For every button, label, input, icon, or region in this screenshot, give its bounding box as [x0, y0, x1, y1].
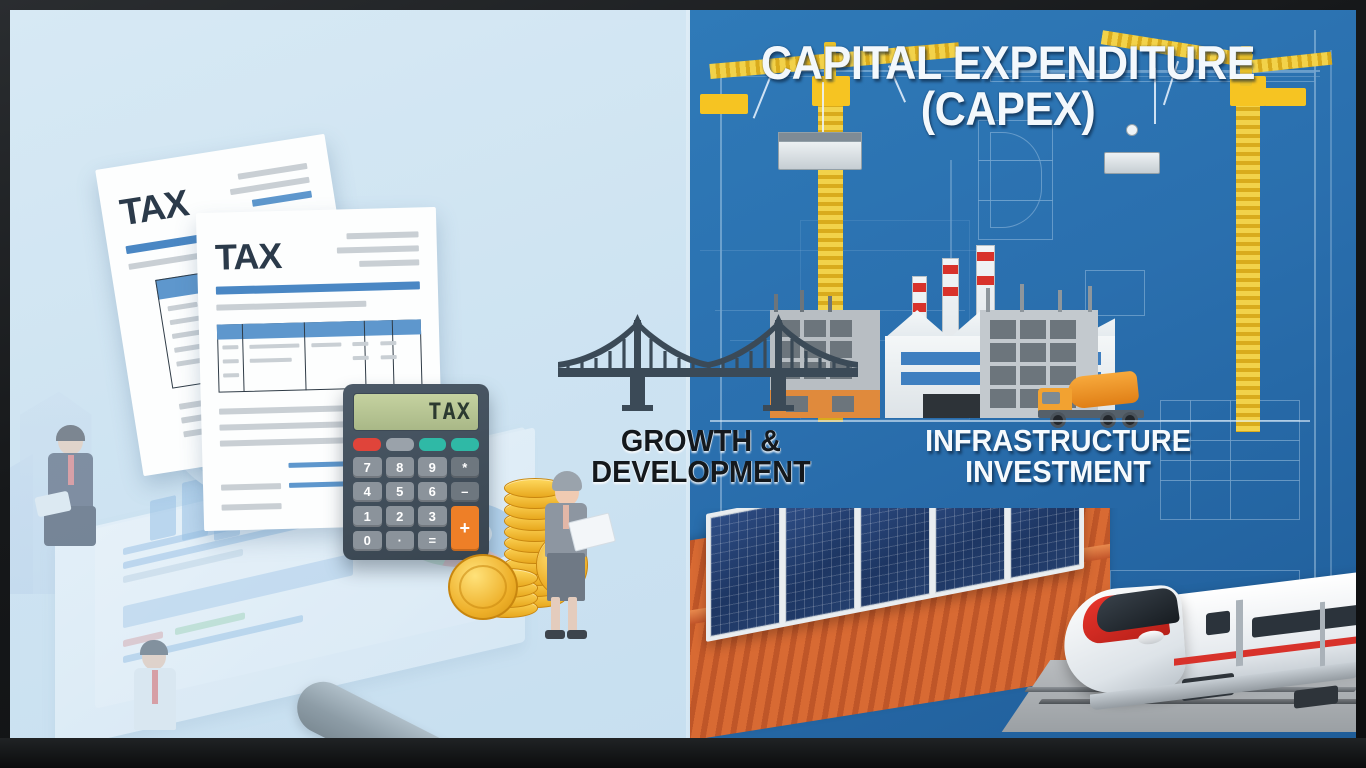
calculator-key-1[interactable]: 1: [353, 506, 382, 527]
calculator-key-4[interactable]: 4: [353, 482, 382, 503]
calculator-key-7[interactable]: 7: [353, 457, 382, 478]
calculator-key-teal-2[interactable]: [451, 438, 479, 451]
calculator-key-8[interactable]: 8: [386, 457, 415, 478]
calculator-key-clear[interactable]: [353, 438, 381, 451]
calculator-display: TAX: [353, 393, 479, 431]
calculator-key-plus[interactable]: +: [451, 506, 480, 551]
poster-artwork: TAX: [10, 10, 1356, 738]
calculator-key-3[interactable]: 3: [418, 506, 447, 527]
calculator-key-teal-1[interactable]: [419, 438, 447, 451]
calculator-key-equals[interactable]: =: [418, 531, 447, 552]
growth-label-line1: GROWTH &: [575, 425, 826, 456]
poster-canvas: TAX: [0, 0, 1366, 768]
infra-label-line2: INVESTMENT: [900, 456, 1216, 487]
calculator-key-2[interactable]: 2: [386, 506, 415, 527]
calculator-key-decimal[interactable]: ·: [386, 531, 415, 552]
calculator-key-9[interactable]: 9: [418, 457, 447, 478]
magnifying-glass-handle: [288, 673, 503, 738]
poster-frame: TAX: [0, 0, 1366, 768]
tax-document-title: TAX: [215, 235, 282, 279]
businesswoman-figure: [535, 465, 599, 645]
suspension-bridge-icon: [558, 306, 858, 411]
frame-bottom-bar: [0, 738, 1366, 768]
calculator-key-6[interactable]: 6: [418, 482, 447, 503]
calculator[interactable]: TAX 7 8 9 * 4 5 6: [343, 384, 489, 560]
calculator-keypad[interactable]: 7 8 9 * 4 5 6 – 1 2 3 + 0 · =: [353, 457, 479, 551]
infrastructure-investment-label: INFRASTRUCTURE INVESTMENT: [900, 425, 1216, 487]
growth-development-label: GROWTH & DEVELOPMENT: [575, 425, 826, 487]
calculator-key-minus[interactable]: –: [451, 482, 480, 503]
high-speed-train-icon: [1046, 522, 1356, 732]
infra-label-line1: INFRASTRUCTURE: [900, 425, 1216, 456]
calculator-key-5[interactable]: 5: [386, 482, 415, 503]
calculator-function-keys[interactable]: [353, 438, 479, 451]
capex-title: CAPITAL EXPENDITURE (CAPEX): [725, 40, 1292, 131]
calculator-key-multiply[interactable]: *: [451, 457, 480, 478]
businessman-figure: [128, 638, 184, 738]
calculator-display-value: TAX: [428, 400, 471, 425]
businessman-figure: [42, 428, 102, 548]
calculator-key-0[interactable]: 0: [353, 531, 382, 552]
calculator-key-gray[interactable]: [386, 438, 414, 451]
growth-label-line2: DEVELOPMENT: [575, 456, 826, 487]
cement-mixer-truck-icon: [1038, 374, 1148, 426]
capex-title-line2: (CAPEX): [725, 86, 1292, 132]
tax-document-title: TAX: [117, 182, 191, 234]
